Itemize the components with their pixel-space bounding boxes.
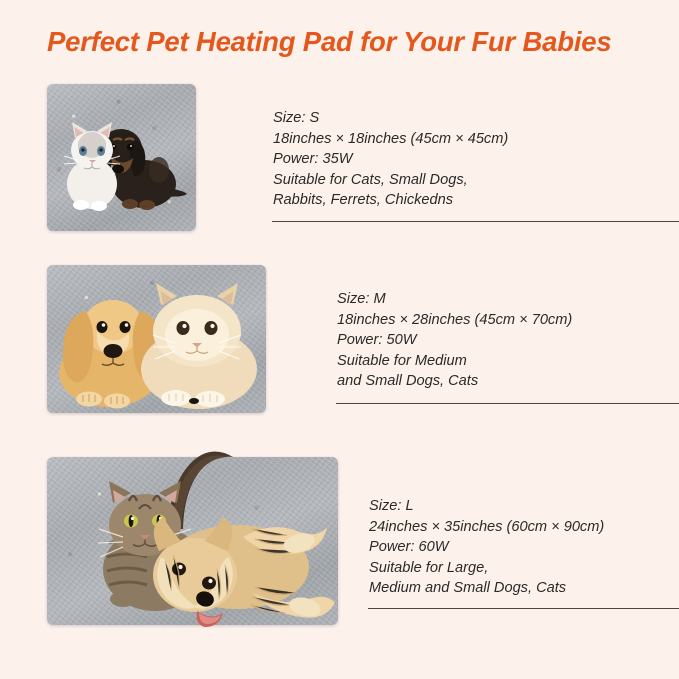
- product-photo-size-s: [47, 84, 196, 231]
- product-photo-size-m: [47, 265, 266, 413]
- infographic-page: Perfect Pet Heating Pad for Your Fur Bab…: [0, 0, 679, 679]
- spec-line: Power: 50W: [337, 330, 572, 351]
- spec-line: Suitable for Medium: [337, 351, 572, 372]
- spec-line: Medium and Small Dogs, Cats: [369, 578, 604, 599]
- pets-small: [47, 84, 196, 231]
- spec-line: Size: M: [337, 289, 572, 310]
- spec-line: 24inches × 35inches (60cm × 90cm): [369, 517, 604, 538]
- spec-size-s: Size: S 18inches × 18inches (45cm × 45cm…: [273, 108, 508, 211]
- spec-line: and Small Dogs, Cats: [337, 371, 572, 392]
- spec-line: Size: S: [273, 108, 508, 129]
- product-photo-size-l: [47, 457, 338, 625]
- pets-large: [47, 457, 338, 625]
- divider-size-s: [272, 221, 679, 222]
- spec-line: Rabbits, Ferrets, Chickedns: [273, 190, 508, 211]
- spec-line: Power: 60W: [369, 537, 604, 558]
- spec-size-m: Size: M 18inches × 28inches (45cm × 70cm…: [337, 289, 572, 392]
- divider-size-m: [336, 403, 679, 404]
- spec-line: 18inches × 28inches (45cm × 70cm): [337, 310, 572, 331]
- page-title: Perfect Pet Heating Pad for Your Fur Bab…: [47, 26, 647, 58]
- spec-size-l: Size: L 24inches × 35inches (60cm × 90cm…: [369, 496, 604, 599]
- divider-size-l: [368, 608, 679, 609]
- persian-kitten: [141, 283, 257, 409]
- spec-line: 18inches × 18inches (45cm × 45cm): [273, 129, 508, 150]
- pets-medium: [47, 265, 266, 413]
- spec-line: Size: L: [369, 496, 604, 517]
- spec-line: Suitable for Cats, Small Dogs,: [273, 170, 508, 191]
- spec-line: Power: 35W: [273, 149, 508, 170]
- spec-line: Suitable for Large,: [369, 558, 604, 579]
